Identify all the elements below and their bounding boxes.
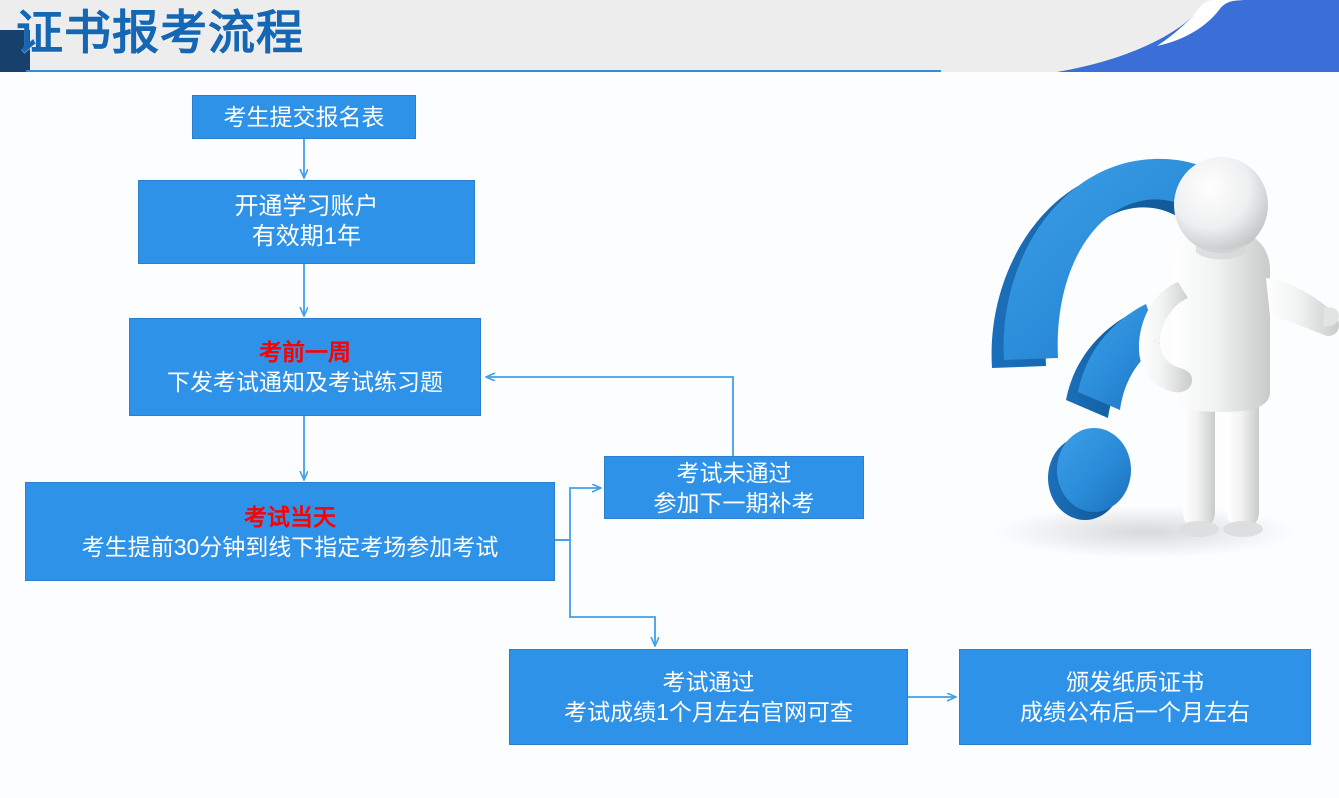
header-swoosh-decoration <box>979 0 1339 72</box>
flowchart-canvas: 考生提交报名表 开通学习账户 有效期1年 考前一周 下发考试通知及考试练习题 考… <box>0 72 1339 798</box>
flow-node-submit-form[interactable]: 考生提交报名表 <box>192 95 416 139</box>
node-line-highlight: 考试当天 <box>30 502 550 532</box>
node-line-highlight: 考前一周 <box>134 337 476 367</box>
flow-node-exam-passed[interactable]: 考试通过 考试成绩1个月左右官网可查 <box>509 649 908 745</box>
node-line: 考试未通过 <box>609 458 859 488</box>
flow-node-exam-day[interactable]: 考试当天 考生提前30分钟到线下指定考场参加考试 <box>25 482 555 581</box>
connector-failed-to-week <box>487 377 733 456</box>
connector-examday-to-failed <box>555 488 600 540</box>
flow-node-issue-certificate[interactable]: 颁发纸质证书 成绩公布后一个月左右 <box>959 649 1311 745</box>
node-line: 颁发纸质证书 <box>964 667 1306 697</box>
question-mark-figure-illustration <box>940 92 1339 600</box>
node-line: 有效期1年 <box>143 222 470 252</box>
node-line: 成绩公布后一个月左右 <box>964 697 1306 727</box>
node-line: 考生提前30分钟到线下指定考场参加考试 <box>30 532 550 562</box>
node-line: 考试通过 <box>514 667 903 697</box>
node-line: 考生提交报名表 <box>197 102 411 132</box>
connector-examday-to-passed <box>555 540 655 645</box>
node-line: 下发考试通知及考试练习题 <box>134 367 476 397</box>
node-line: 开通学习账户 <box>143 192 470 222</box>
node-line: 考试成绩1个月左右官网可查 <box>514 697 903 727</box>
flow-node-exam-failed[interactable]: 考试未通过 参加下一期补考 <box>604 456 864 519</box>
title-underline <box>26 70 941 72</box>
page-title: 证书报考流程 <box>16 2 304 64</box>
node-line: 参加下一期补考 <box>609 488 859 518</box>
flow-node-one-week-before[interactable]: 考前一周 下发考试通知及考试练习题 <box>129 318 481 416</box>
page-header: 证书报考流程 <box>0 0 1339 72</box>
flow-node-open-account[interactable]: 开通学习账户 有效期1年 <box>138 180 475 264</box>
